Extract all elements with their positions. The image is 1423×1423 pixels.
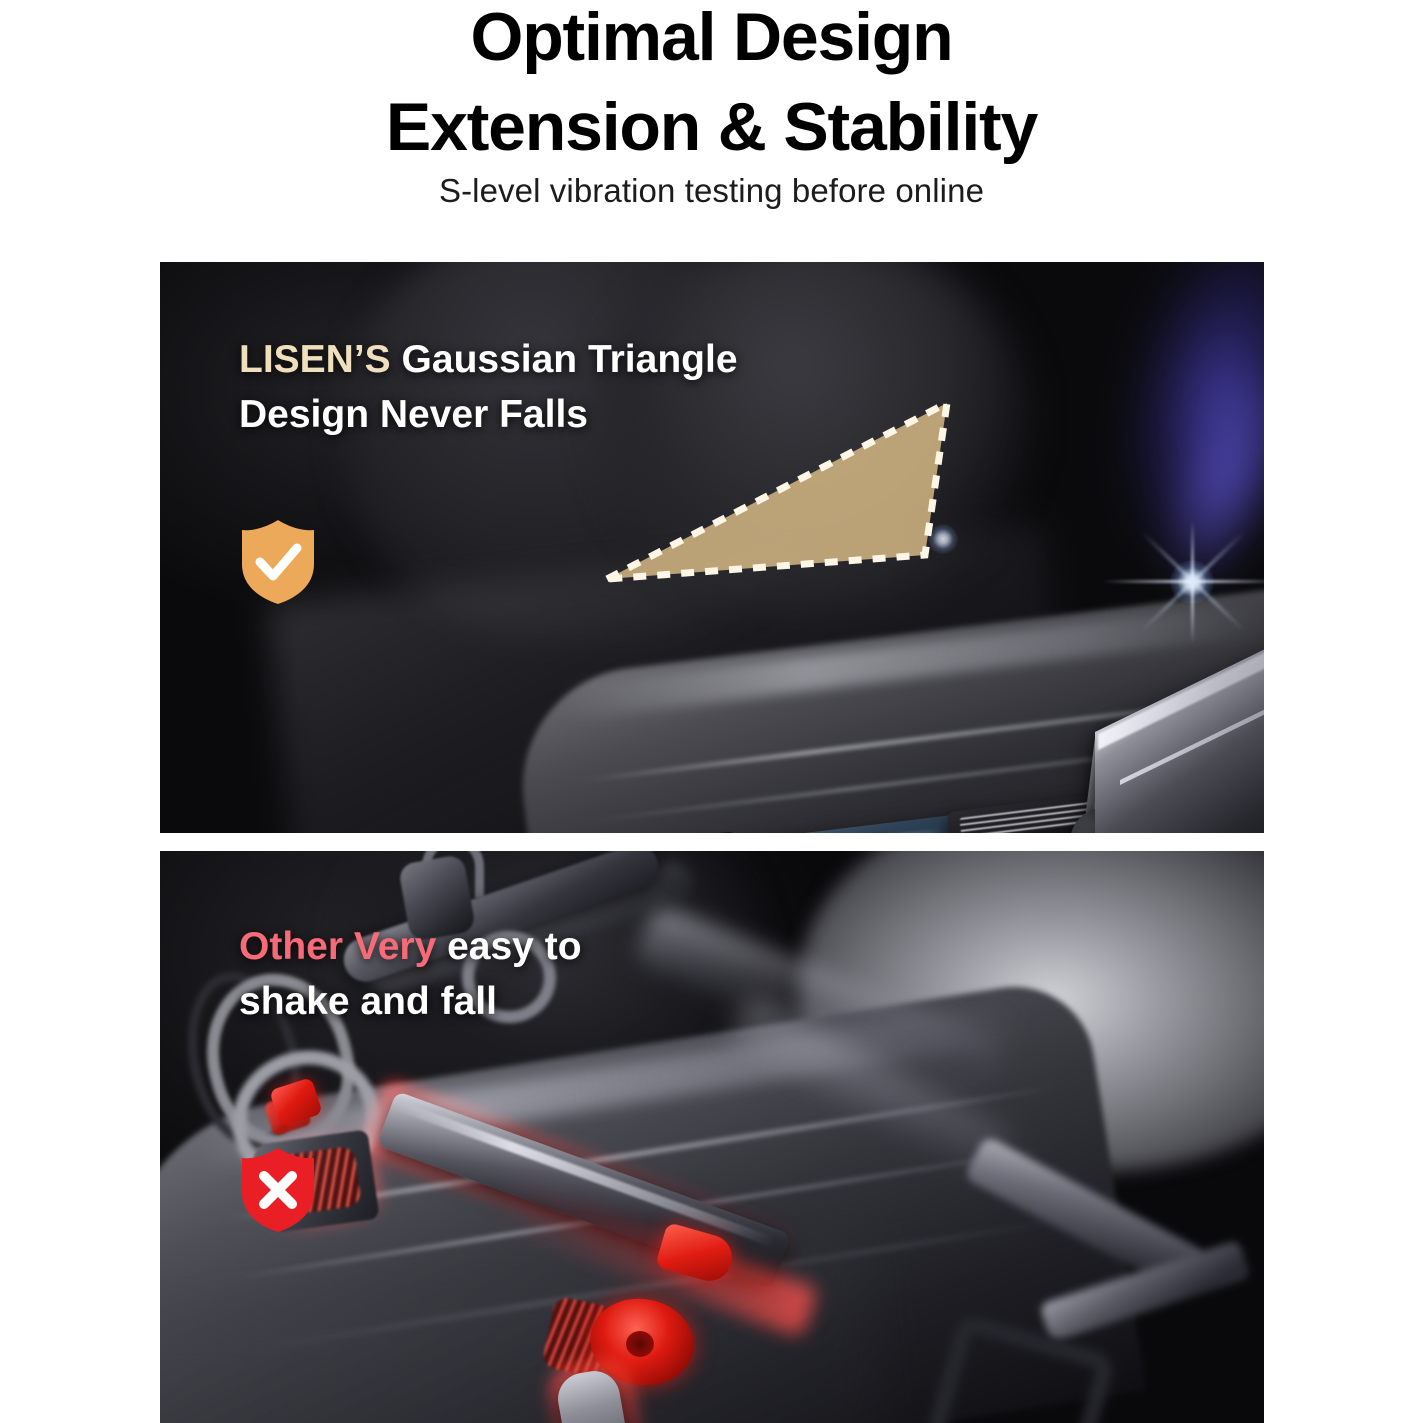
header-block: Optimal Design Extension & Stability S-l…: [0, 0, 1423, 262]
panel-bad-caption: Other Very easy to shake and fall: [239, 919, 582, 1030]
lower-pivot-hole: [626, 1331, 654, 1357]
shield-cross-icon: [240, 1146, 316, 1234]
page-subtitle: S-level vibration testing before online: [0, 172, 1423, 210]
panel-good-design: LISEN’S Gaussian Triangle Design Never F…: [160, 262, 1264, 833]
panel-bad-design: Other Very easy to shake and fall: [160, 851, 1264, 1423]
warning-accent-text: Other Very: [239, 925, 436, 968]
brand-accent-text: LISEN’S: [239, 338, 402, 381]
shield-check-icon: [240, 518, 316, 606]
page-title: Optimal Design Extension & Stability: [0, 0, 1423, 173]
panel-divider: [0, 833, 1423, 851]
panel-good-caption: LISEN’S Gaussian Triangle Design Never F…: [239, 332, 738, 443]
